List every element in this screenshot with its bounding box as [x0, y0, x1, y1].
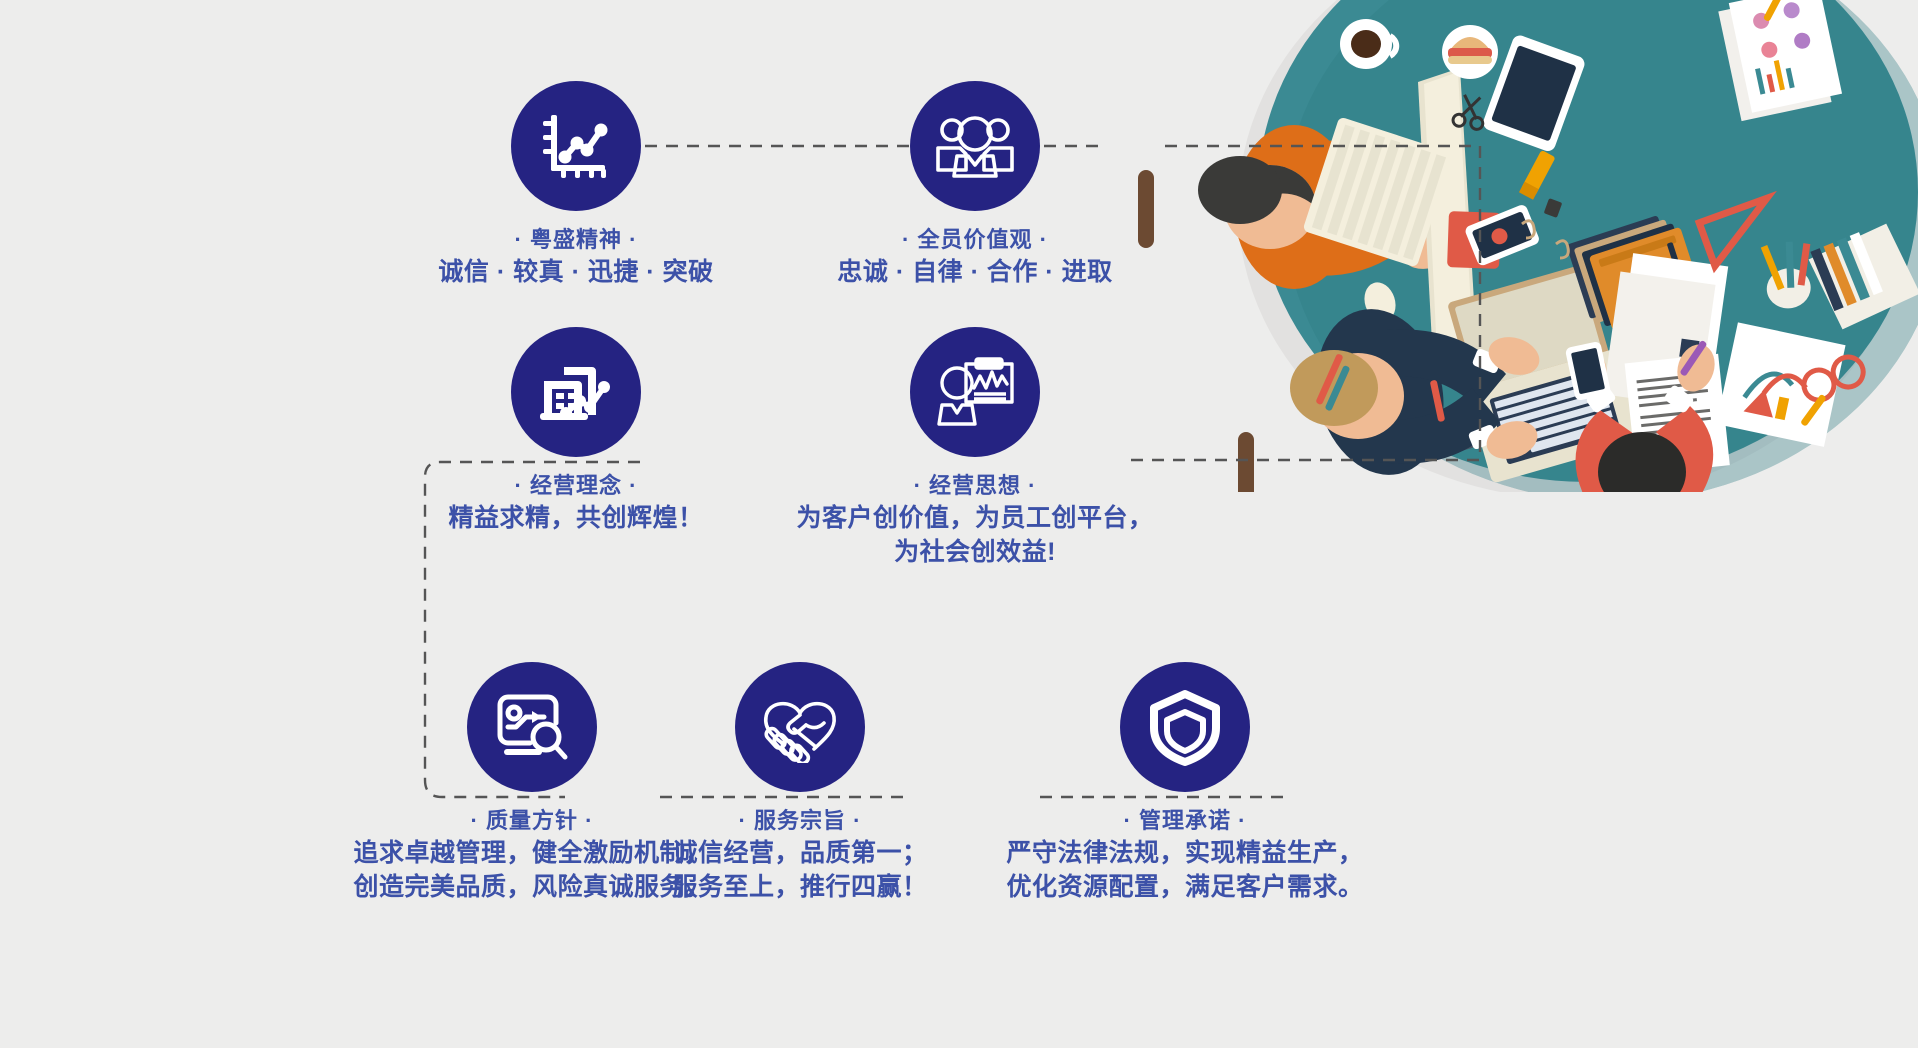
values-title: · 全员价值观 · [837, 225, 1112, 255]
node-spirit[interactable]: · 粤盛精神 · 诚信 · 较真 · 迅捷 · 突破 [446, 81, 706, 289]
thinking-labels: · 经营思想 · 为客户创价值，为员工创平台， 为社会创效益! [797, 471, 1154, 569]
thinking-line-1: 为客户创价值，为员工创平台， [797, 501, 1154, 535]
values-line-1: 忠诚 · 自律 · 合作 · 进取 [837, 255, 1112, 289]
philosophy-line-1: 精益求精，共创辉煌！ [448, 501, 703, 535]
quality-line-1: 追求卓越管理，健全激励机制， [353, 836, 710, 870]
quality-badge[interactable] [467, 662, 597, 792]
building-chart-icon [536, 355, 616, 429]
commitment-labels: · 管理承诺 · 严守法律法规，实现精益生产， 优化资源配置，满足客户需求。 [1006, 806, 1363, 904]
node-philosophy[interactable]: · 经营理念 · 精益求精，共创辉煌！ [446, 327, 706, 535]
spirit-badge[interactable] [511, 81, 641, 211]
quality-title: · 质量方针 · [353, 806, 710, 836]
node-service[interactable]: · 服务宗旨 · 诚信经营，品质第一； 服务至上，推行四赢！ [660, 662, 940, 904]
shield-icon [1148, 688, 1222, 766]
thinking-line-2: 为社会创效益! [797, 535, 1154, 569]
service-title: · 服务宗旨 · [672, 806, 927, 836]
sandwich-plate [1442, 25, 1498, 79]
presenter-board-icon [934, 356, 1016, 428]
node-thinking[interactable]: · 经营思想 · 为客户创价值，为员工创平台， 为社会创效益! [845, 327, 1105, 569]
quality-line-2: 创造完美品质，风险真诚服务。 [353, 870, 710, 904]
commitment-line-1: 严守法律法规，实现精益生产， [1006, 836, 1363, 870]
service-line-1: 诚信经营，品质第一； [672, 836, 927, 870]
node-quality[interactable]: · 质量方针 · 追求卓越管理，健全激励机制， 创造完美品质，风险真诚服务。 [352, 662, 712, 904]
philosophy-title: · 经营理念 · [448, 471, 703, 501]
quality-labels: · 质量方针 · 追求卓越管理，健全激励机制， 创造完美品质，风险真诚服务。 [353, 806, 710, 904]
thinking-title: · 经营思想 · [797, 471, 1154, 501]
values-badge[interactable] [910, 81, 1040, 211]
commitment-badge[interactable] [1120, 662, 1250, 792]
spirit-labels: · 粤盛精神 · 诚信 · 较真 · 迅捷 · 突破 [438, 225, 713, 289]
handshake-heart-icon [760, 691, 840, 763]
philosophy-labels: · 经营理念 · 精益求精，共创辉煌！ [448, 471, 703, 535]
philosophy-badge[interactable] [511, 327, 641, 457]
infographic-canvas: · 粤盛精神 · 诚信 · 较真 · 迅捷 · 突破 · 全员价值观 · 忠诚 … [0, 0, 1918, 1048]
people-group-icon [935, 114, 1015, 178]
quality-inspection-icon [494, 691, 570, 763]
service-line-2: 服务至上，推行四赢！ [672, 870, 927, 904]
service-labels: · 服务宗旨 · 诚信经营，品质第一； 服务至上，推行四赢！ [672, 806, 927, 904]
line-chart-icon [537, 107, 615, 185]
spirit-line-1: 诚信 · 较真 · 迅捷 · 突破 [438, 255, 713, 289]
node-commitment[interactable]: · 管理承诺 · 严守法律法规，实现精益生产， 优化资源配置，满足客户需求。 [1005, 662, 1365, 904]
commitment-line-2: 优化资源配置，满足客户需求。 [1006, 870, 1363, 904]
service-badge[interactable] [735, 662, 865, 792]
commitment-title: · 管理承诺 · [1006, 806, 1363, 836]
spirit-title: · 粤盛精神 · [438, 225, 713, 255]
node-values[interactable]: · 全员价值观 · 忠诚 · 自律 · 合作 · 进取 [845, 81, 1105, 289]
thinking-badge[interactable] [910, 327, 1040, 457]
office-teamwork-illustration [1118, 0, 1918, 492]
values-labels: · 全员价值观 · 忠诚 · 自律 · 合作 · 进取 [837, 225, 1112, 289]
